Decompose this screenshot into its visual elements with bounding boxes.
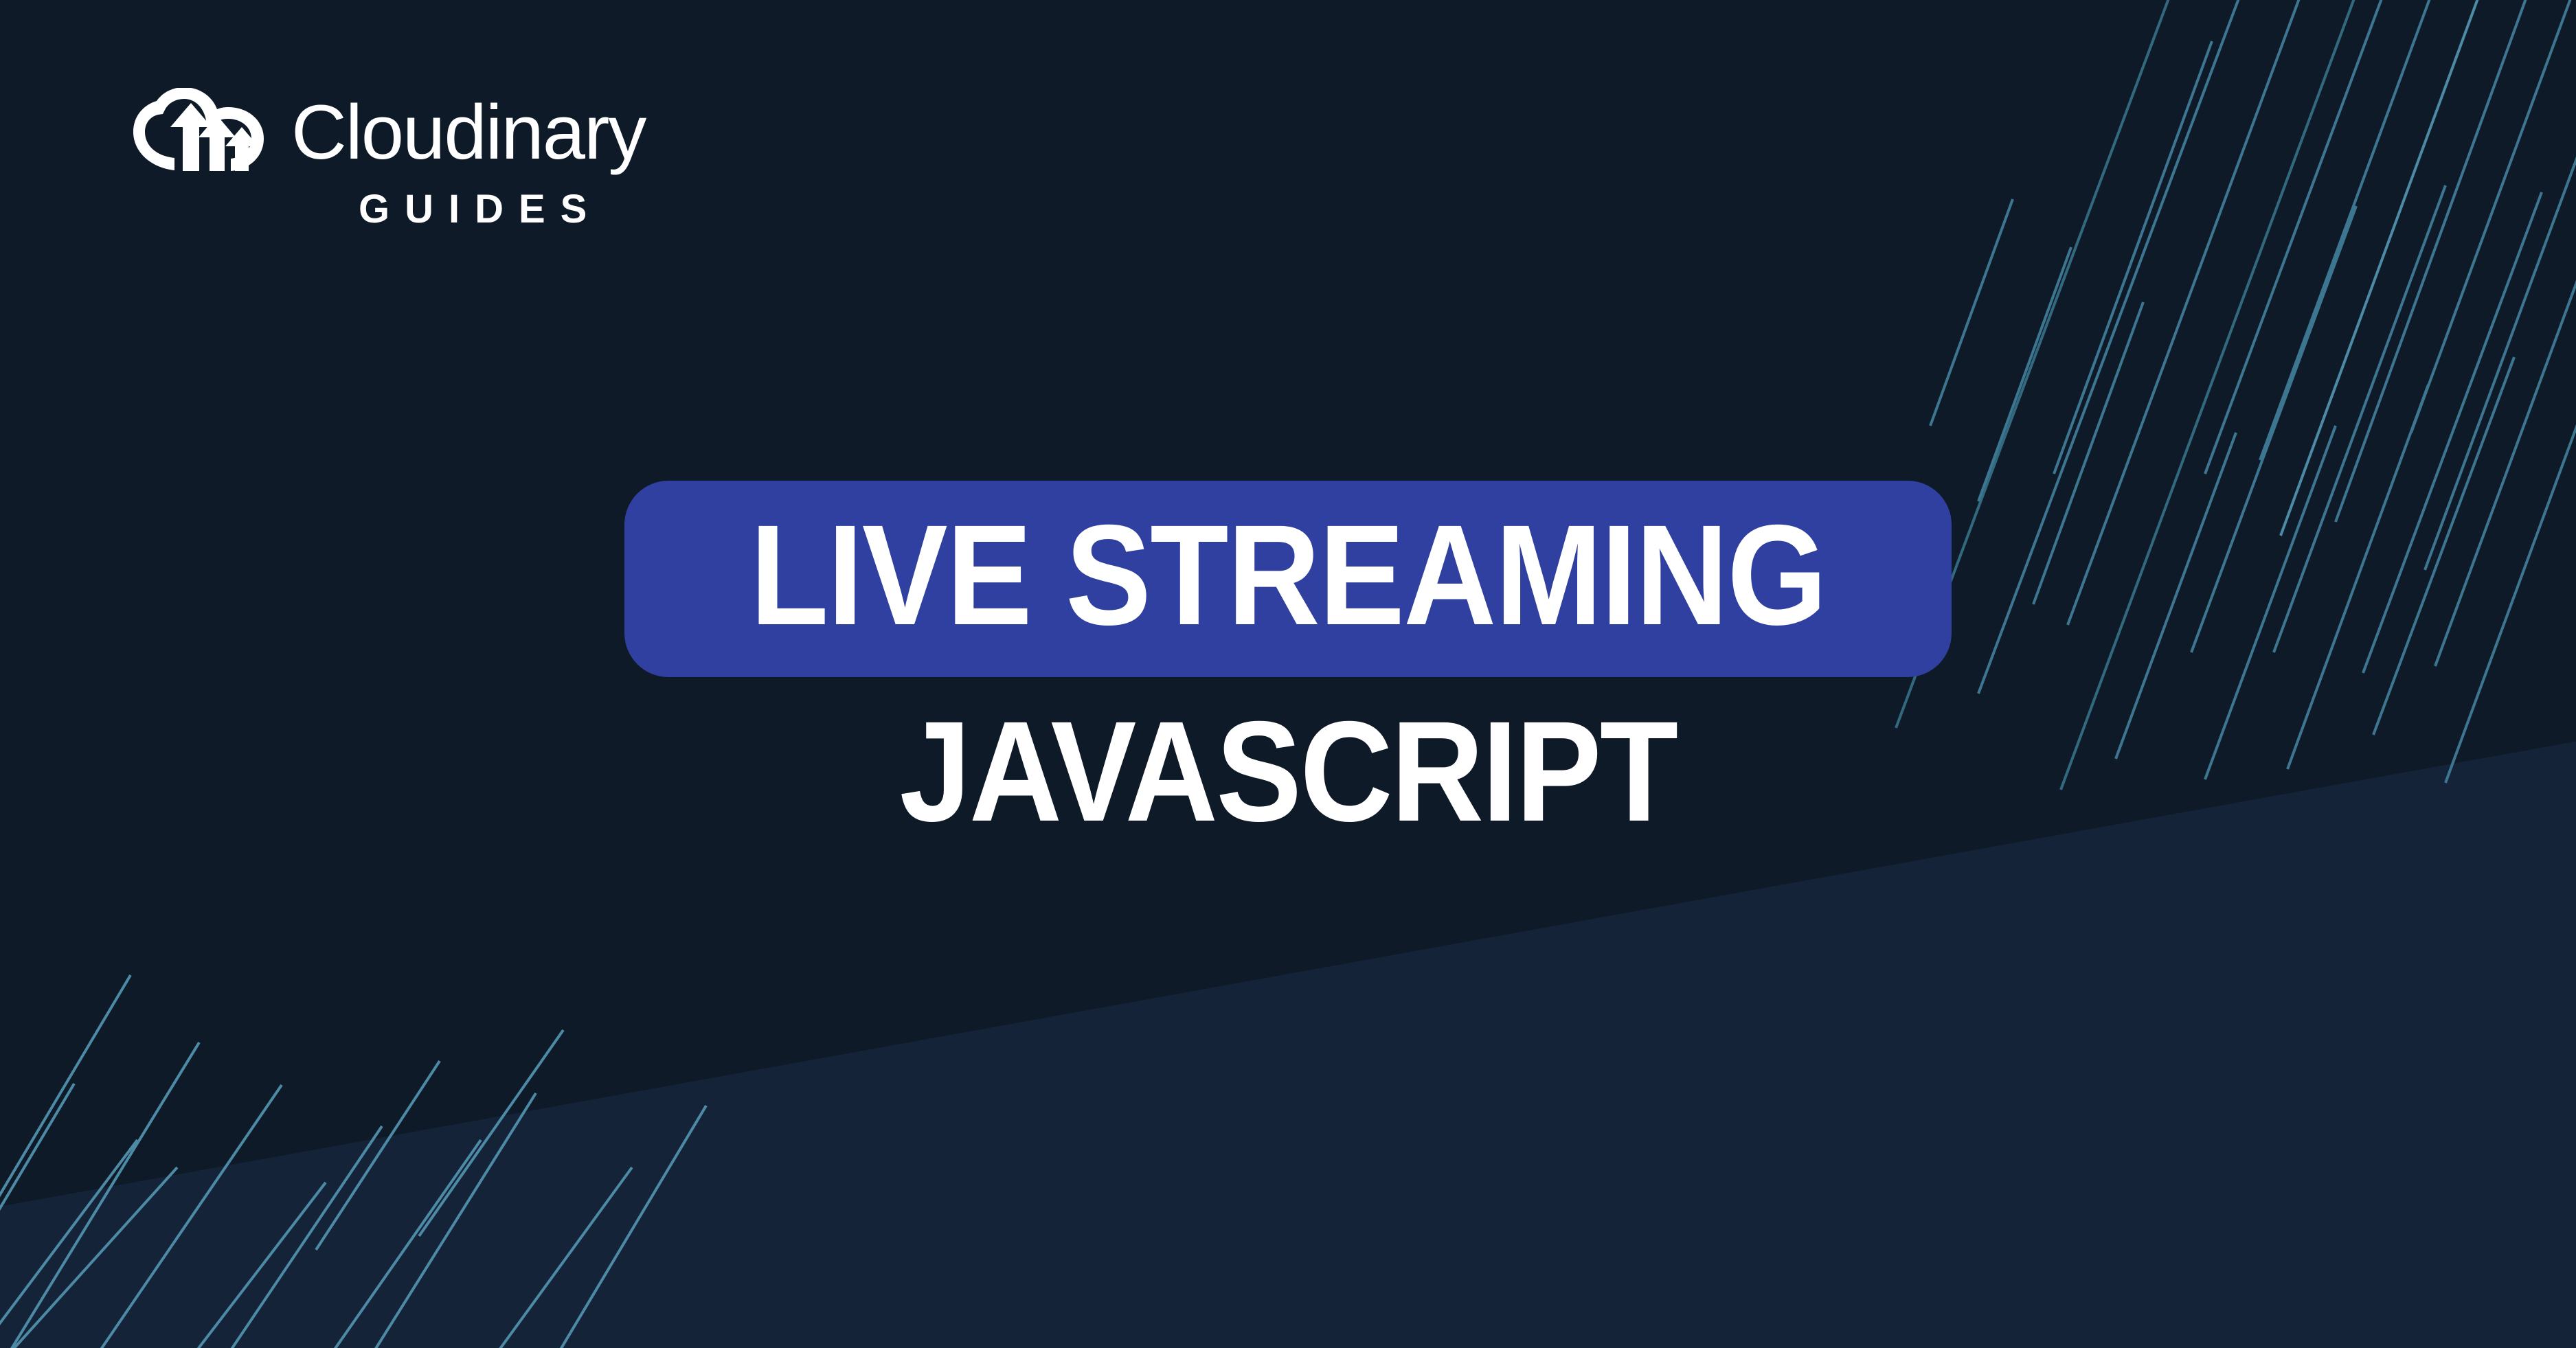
headline-block: LIVE STREAMING JAVASCRIPT xyxy=(0,481,2576,843)
brand-lockup: Cloudinary GUIDES xyxy=(132,88,750,229)
brand-primary-row: Cloudinary xyxy=(132,88,750,172)
brand-sub-wordmark: GUIDES xyxy=(132,190,750,229)
title-badge: LIVE STREAMING xyxy=(624,481,1952,677)
brand-wordmark: Cloudinary xyxy=(291,94,645,171)
cloudinary-cloud-arrows-icon xyxy=(132,88,276,172)
social-card-canvas: Cloudinary GUIDES LIVE STREAMING JAVASCR… xyxy=(0,0,2576,1348)
title-badge-label: LIVE STREAMING xyxy=(750,504,1826,647)
headline-subtitle: JAVASCRIPT xyxy=(129,700,2448,843)
